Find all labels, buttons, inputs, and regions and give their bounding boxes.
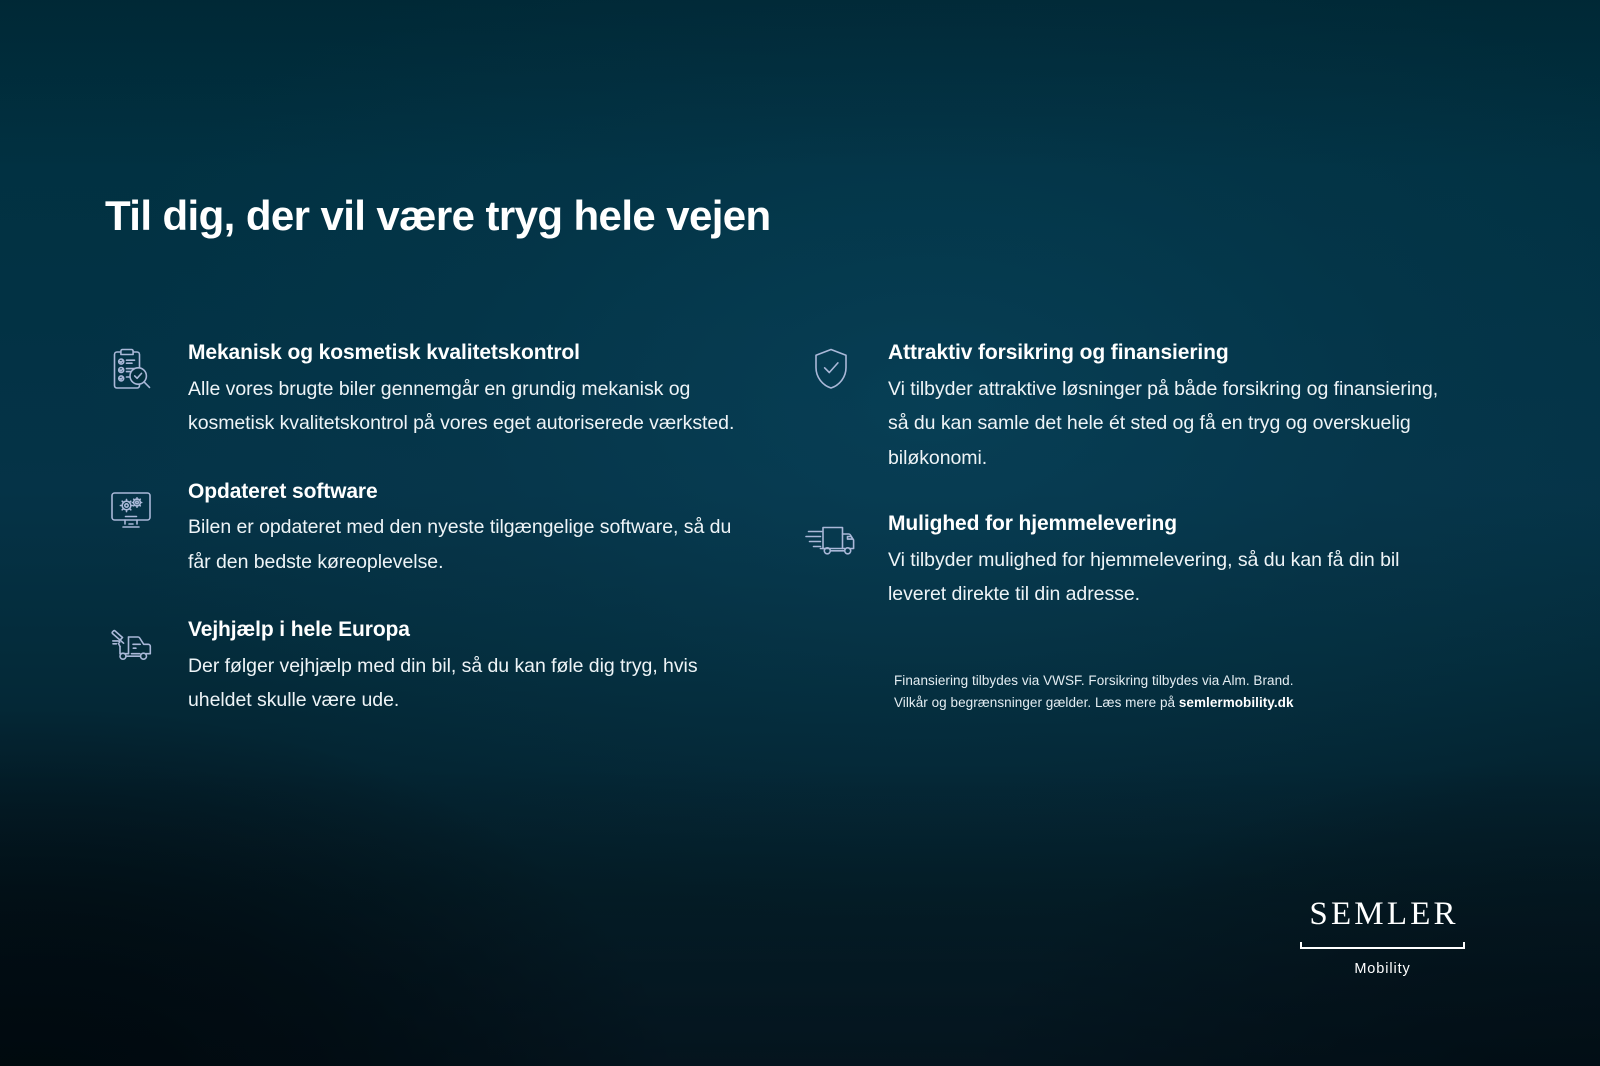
tow-truck-icon [100,621,162,669]
feature-description: Der følger vejhjælp med din bil, så du k… [188,649,740,718]
feature-text: Mekanisk og kosmetisk kvalitetskontrol A… [188,340,740,441]
logo-wordmark: SEMLER [1300,898,1465,931]
feature-title: Vejhjælp i hele Europa [188,617,740,644]
clipboard-checklist-magnifier-icon [100,344,162,396]
delivery-truck-icon [800,515,862,561]
logo-rule-tick-left [1300,942,1302,949]
feature-title: Opdateret software [188,479,740,506]
logo-divider-rule [1300,942,1465,954]
promo-banner: Til dig, der vil være tryg hele vejen [0,0,1600,1066]
feature-text: Vejhjælp i hele Europa Der følger vejhjæ… [188,617,740,718]
feature-item-opdateret-software: Opdateret software Bilen er opdateret me… [100,479,740,580]
semlermobility-link[interactable]: semlermobility.dk [1179,695,1294,710]
feature-item-vejhjaelp: Vejhjælp i hele Europa Der følger vejhjæ… [100,617,740,718]
disclaimer-line-2-prefix: Vilkår og begrænsninger gælder. Læs mere… [894,695,1179,710]
logo-subtitle: Mobility [1300,961,1465,977]
feature-text: Mulighed for hjemmelevering Vi tilbyder … [888,511,1460,612]
legal-disclaimer: Finansiering tilbydes via VWSF. Forsikri… [894,670,1414,714]
feature-description: Alle vores brugte biler gennemgår en gru… [188,372,740,441]
logo-rule-tick-right [1463,942,1465,949]
shield-check-icon [800,344,862,394]
feature-title: Mekanisk og kosmetisk kvalitetskontrol [188,340,740,367]
feature-title: Mulighed for hjemmelevering [888,511,1460,538]
feature-text: Attraktiv forsikring og finansiering Vi … [888,340,1460,475]
feature-column-left: Mekanisk og kosmetisk kvalitetskontrol A… [100,340,740,718]
feature-column-right: Attraktiv forsikring og finansiering Vi … [800,340,1460,647]
page-title: Til dig, der vil være tryg hele vejen [105,192,771,240]
feature-description: Vi tilbyder attraktive løsninger på både… [888,372,1460,475]
feature-item-hjemmelevering: Mulighed for hjemmelevering Vi tilbyder … [800,511,1460,612]
feature-title: Attraktiv forsikring og finansiering [888,340,1460,367]
monitor-gears-icon [100,483,162,535]
feature-description: Vi tilbyder mulighed for hjemmelevering,… [888,543,1460,612]
feature-item-forsikring-finansiering: Attraktiv forsikring og finansiering Vi … [800,340,1460,475]
feature-description: Bilen er opdateret med den nyeste tilgæn… [188,510,740,579]
feature-text: Opdateret software Bilen er opdateret me… [188,479,740,580]
disclaimer-line-1: Finansiering tilbydes via VWSF. Forsikri… [894,673,1294,688]
semler-mobility-logo: SEMLER Mobility [1300,898,1465,977]
feature-item-kvalitetskontrol: Mekanisk og kosmetisk kvalitetskontrol A… [100,340,740,441]
